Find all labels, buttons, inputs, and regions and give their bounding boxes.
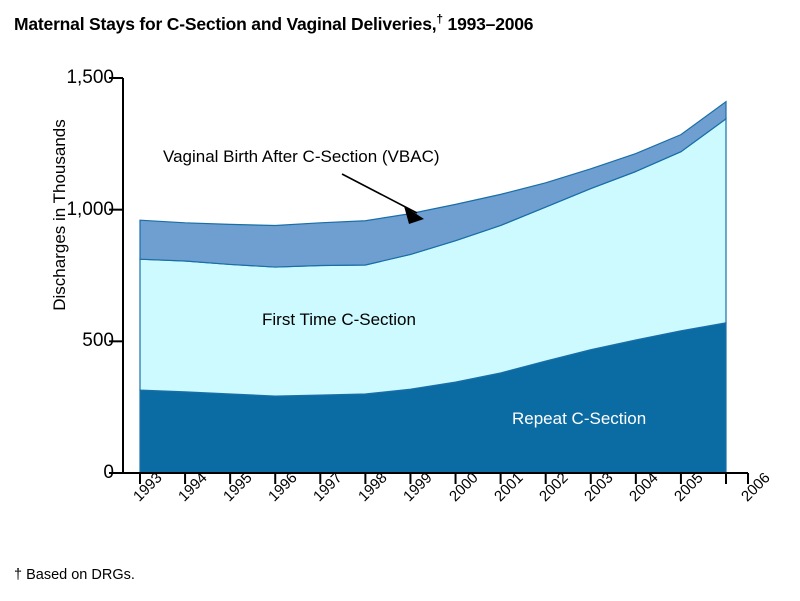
x-axis-tick-label: 1994 bbox=[175, 469, 211, 505]
annotation-label-vbac: Vaginal Birth After C-Section (VBAC) bbox=[163, 147, 440, 167]
x-axis-tick-label: 1998 bbox=[355, 469, 391, 505]
x-axis-tick-label: 2005 bbox=[671, 469, 707, 505]
footnote: † Based on DRGs. bbox=[14, 567, 135, 583]
x-axis-tick-label: 2001 bbox=[491, 469, 527, 505]
x-axis-tick-label: 1995 bbox=[220, 469, 256, 505]
band-label-repeat-csection: Repeat C-Section bbox=[512, 409, 646, 429]
x-axis-tick-label: 2002 bbox=[536, 469, 572, 505]
x-axis-tick-labels: 1993199419951996199719981999200020012002… bbox=[0, 0, 800, 601]
x-axis-tick-label: 2000 bbox=[446, 469, 482, 505]
x-axis-tick-label: 2006 bbox=[738, 469, 774, 505]
x-axis-tick-label: 2003 bbox=[581, 469, 617, 505]
x-axis-tick-label: 2004 bbox=[626, 469, 662, 505]
x-axis-tick-label: 1996 bbox=[265, 469, 301, 505]
chart-plot-area: Discharges in Thousands 05001,0001,500 1… bbox=[0, 0, 800, 601]
x-axis-tick-label: 1993 bbox=[130, 469, 166, 505]
x-axis-tick-label: 1999 bbox=[400, 469, 436, 505]
x-axis-tick-label: 1997 bbox=[310, 469, 346, 505]
band-label-first-time-csection: First Time C-Section bbox=[262, 310, 416, 330]
